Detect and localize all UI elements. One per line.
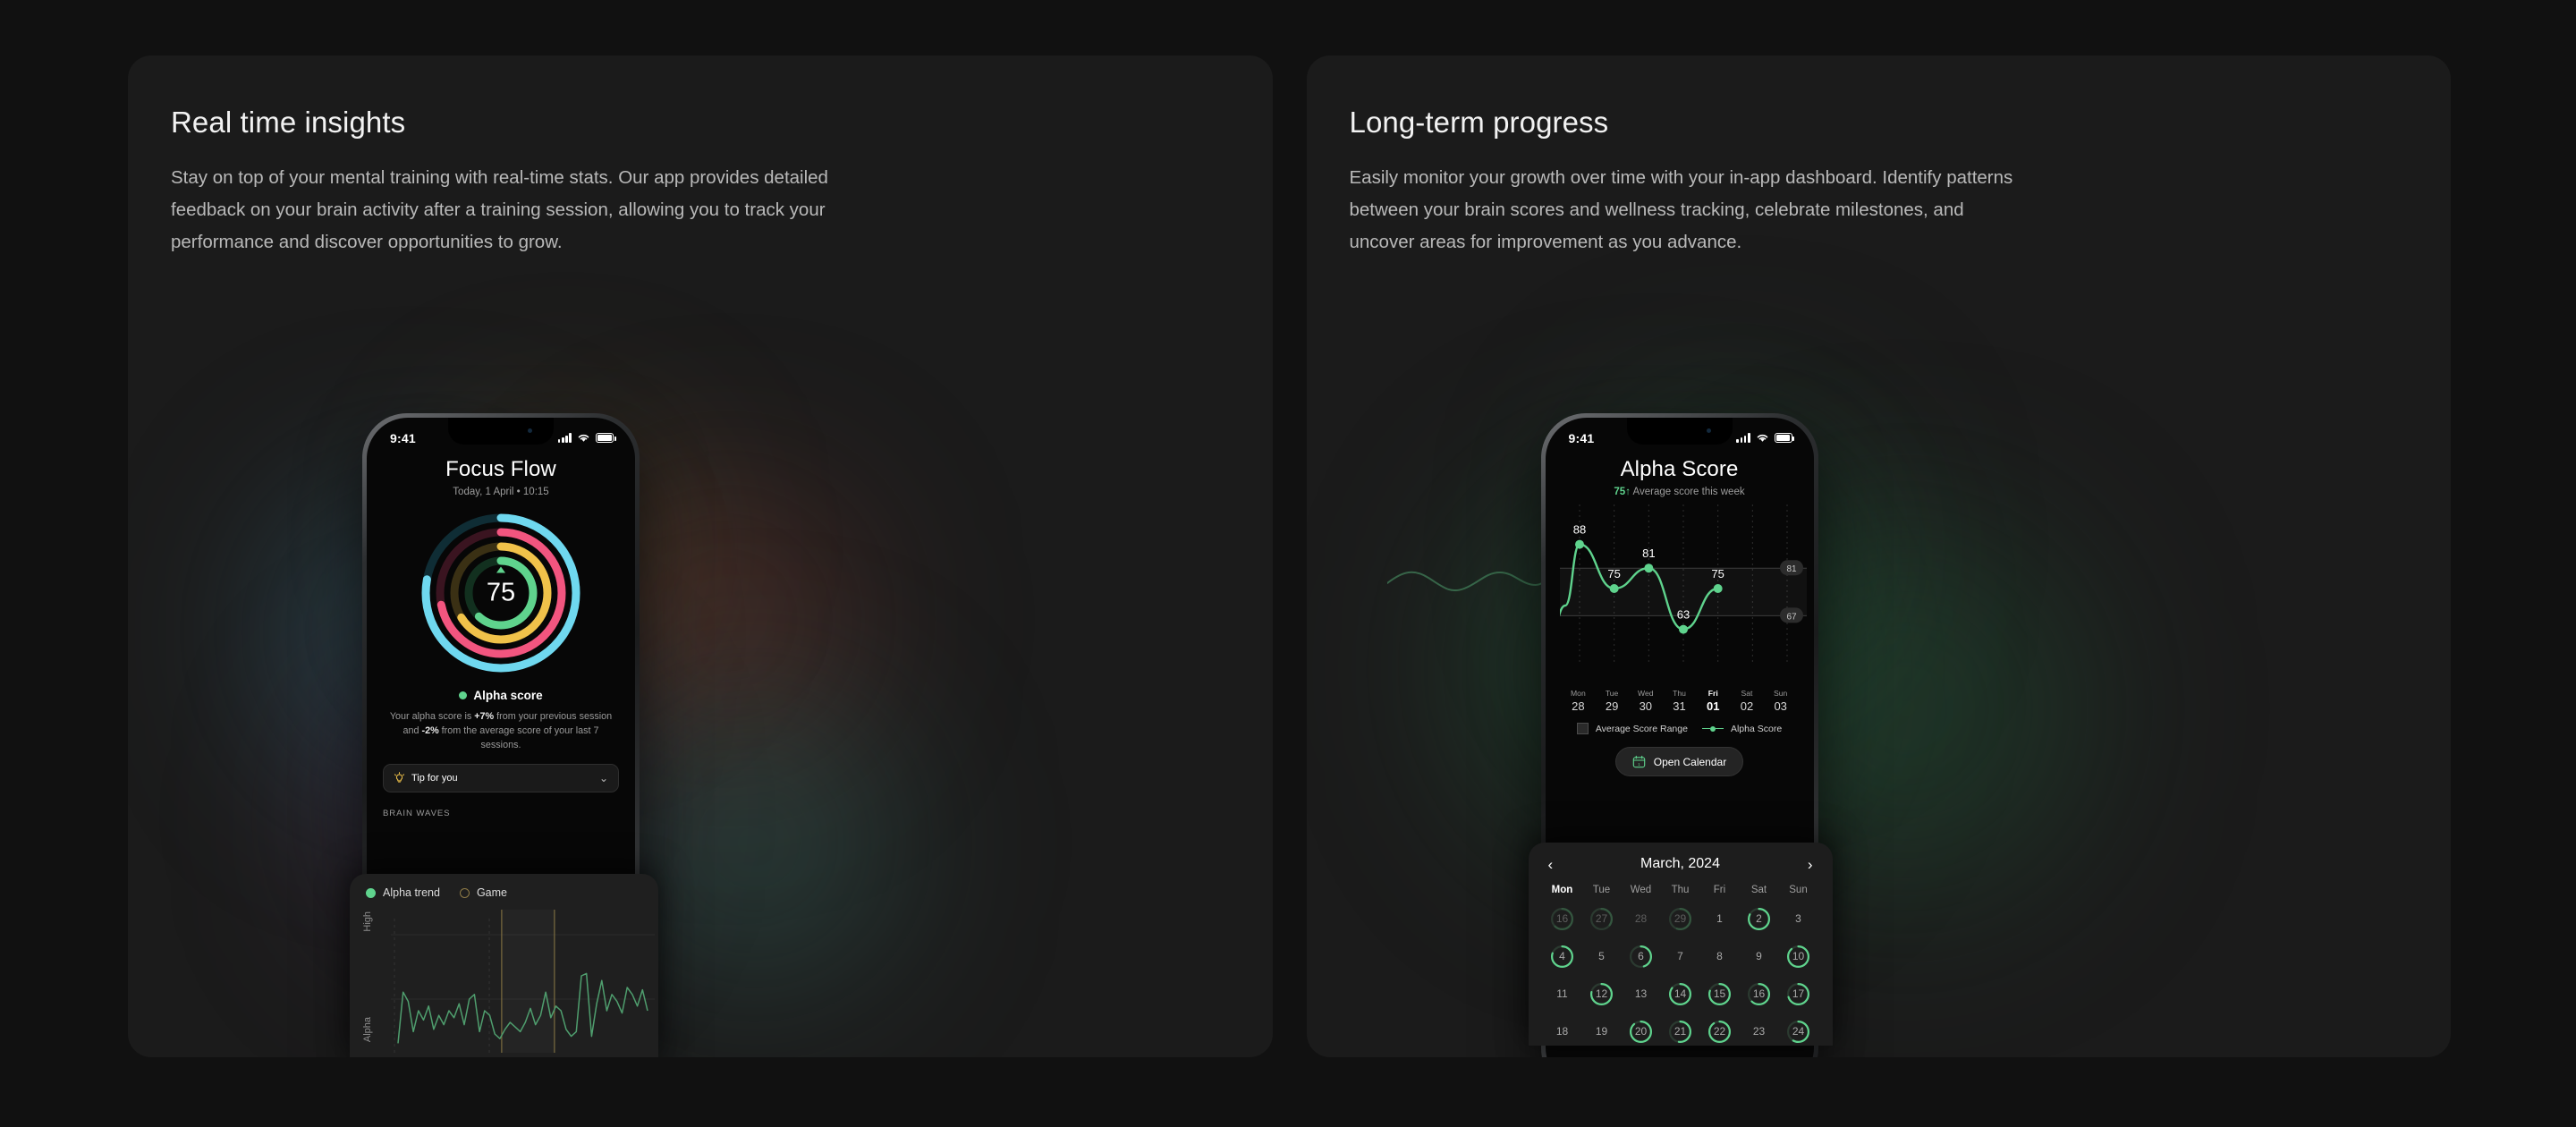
day-name: Mon [1562,689,1596,698]
legend-label-average-range: Average Score Range [1596,724,1688,734]
calendar-day-number: 19 [1596,1025,1607,1038]
lightbulb-icon [394,772,405,784]
status-indicators [1736,433,1792,443]
calendar-day[interactable]: 10 [1786,945,1810,969]
cellular-bars-icon [558,433,572,443]
calendar-day[interactable]: 15 [1707,982,1732,1006]
average-score-value: 75↑ [1614,487,1631,497]
legend-item-game[interactable]: Game [460,886,507,899]
wave-legend: Alpha trend Game [360,886,644,899]
calendar-day-cell[interactable]: 18 [1543,1017,1582,1046]
calendar-day[interactable]: 16 [1747,982,1771,1006]
page-description: Easily monitor your growth over time wit… [1350,162,2016,258]
calendar-day-cell[interactable]: 3 [1779,904,1818,933]
legend-label-game: Game [477,886,507,899]
calendar-day-number: 2 [1756,912,1762,925]
calendar-day-cell[interactable]: 22 [1700,1017,1740,1046]
app-content-left: Focus Flow Today, 1 April • 10:15 [367,452,635,818]
calendar-day-number: 8 [1716,950,1723,962]
calendar-day[interactable]: 23 [1747,1020,1771,1044]
chevron-right-icon[interactable]: › [1802,857,1818,872]
calendar-day-cell[interactable]: 21 [1661,1017,1700,1046]
calendar-day-number: 27 [1596,912,1607,925]
calendar-day[interactable]: 6 [1629,945,1653,969]
alpha-score-line-chart: 81678875816375 [1562,504,1798,683]
calendar-day-cell[interactable]: 10 [1779,942,1818,970]
note-prefix: Your alpha score is [390,711,474,722]
calendar-day-cell[interactable]: 17 [1779,979,1818,1008]
status-time: 9:41 [1569,431,1595,445]
hollow-circle-icon [460,888,470,898]
calendar-day-cell[interactable]: 2 [1740,904,1779,933]
calendar-day[interactable]: 3 [1786,907,1810,931]
status-indicators [558,433,614,443]
calendar-day-cell[interactable]: 14 [1661,979,1700,1008]
calendar-day[interactable]: 22 [1707,1020,1732,1044]
svg-text:81: 81 [1642,547,1655,560]
card-text-right: Long-term progress Easily monitor your g… [1307,55,2452,258]
calendar-day[interactable]: 7 [1668,945,1692,969]
calendar-day-number: 4 [1559,950,1565,962]
day-column[interactable]: Mon28 [1562,689,1596,713]
alpha-score-legend: Alpha score [383,689,619,702]
calendar-weekday: Wed [1622,885,1661,895]
day-number: 03 [1764,699,1798,713]
note-suffix: from the average score of your last 7 se… [439,725,599,750]
calendar-weekday: Tue [1582,885,1622,895]
legend-label-alpha-score: Alpha Score [1731,724,1782,734]
day-column[interactable]: Wed30 [1629,689,1663,713]
calendar-day-number: 3 [1795,912,1801,925]
card-text-left: Real time insights Stay on top of your m… [128,55,1273,258]
calendar-day[interactable]: 24 [1786,1020,1810,1044]
calendar-icon: 1 [1632,755,1646,768]
calendar-day-cell[interactable]: 1 [1700,904,1740,933]
calendar-day-cell[interactable]: 12 [1582,979,1622,1008]
score-trend-up-icon [496,567,505,573]
calendar-day-number: 7 [1677,950,1683,962]
calendar-day-number: 12 [1596,987,1607,1000]
calendar-day-cell[interactable]: 8 [1700,942,1740,970]
brain-waves-section-label: BRAIN WAVES [383,809,619,818]
calendar-day[interactable]: 13 [1629,982,1653,1006]
calendar-day-cell[interactable]: 15 [1700,979,1740,1008]
calendar-day-number: 1 [1716,912,1723,925]
day-column[interactable]: Fri01 [1696,689,1730,713]
calendar-day-cell[interactable]: 27 [1582,904,1622,933]
day-number: 28 [1562,699,1596,713]
calendar-weekday: Thu [1661,885,1700,895]
calendar-day-number: 11 [1556,987,1567,1000]
battery-full-icon [1775,433,1792,443]
calendar-weekday: Mon [1543,885,1582,895]
calendar-day-number: 17 [1792,987,1804,1000]
calendar-day-cell[interactable]: 19 [1582,1017,1622,1046]
day-number: 01 [1696,699,1730,713]
average-score-text: Average score this week [1633,487,1745,497]
calendar-day-cell[interactable]: 6 [1622,942,1661,970]
chart-x-axis-days: Mon28Tue29Wed30Thu31Fri01Sat02Sun03 [1562,689,1798,713]
day-name: Wed [1629,689,1663,698]
calendar-day-number: 23 [1753,1025,1765,1038]
calendar-weekday: Sat [1740,885,1779,895]
status-bar: 9:41 [367,418,635,452]
calendar-week-row: 18192021222324 [1543,1017,1818,1046]
square-swatch-icon [1577,723,1589,734]
note-delta-previous: +7% [474,711,494,722]
calendar-week-row: 45678910 [1543,942,1818,970]
calendar-day[interactable]: 27 [1589,907,1614,931]
calendar-day-number: 22 [1714,1025,1725,1038]
calendar-day-number: 5 [1598,950,1605,962]
svg-text:1: 1 [1638,762,1640,767]
card-real-time-insights: Real time insights Stay on top of your m… [128,55,1273,1057]
legend-label-alpha-trend: Alpha trend [383,886,440,899]
calendar-grid: 1627282912345678910111213141516171819202… [1543,904,1818,1046]
app-content-right: Alpha Score 75↑ Average score this week … [1546,452,1814,776]
day-number: 31 [1663,699,1697,713]
calendar-day[interactable]: 21 [1668,1020,1692,1044]
calendar-day-cell[interactable]: 20 [1622,1017,1661,1046]
calendar-day-number: 9 [1756,950,1762,962]
page-title: Real time insights [171,106,1230,140]
calendar-day-number: 16 [1753,987,1765,1000]
page-title: Long-term progress [1350,106,2409,140]
legend-label: Alpha score [473,689,542,702]
day-name: Tue [1595,689,1629,698]
calendar-day-number: 21 [1674,1025,1686,1038]
score-rings-chart: 75 [418,510,584,676]
day-column[interactable]: Sun03 [1764,689,1798,713]
day-number: 30 [1629,699,1663,713]
calendar-day-cell[interactable]: 11 [1543,979,1582,1008]
filled-dot-icon [366,888,376,898]
calendar-day-cell[interactable]: 28 [1622,904,1661,933]
note-delta-average: -2% [421,725,438,736]
app-title: Focus Flow [383,457,619,482]
calendar-weekday-header: MonTueWedThuFriSatSun [1543,885,1818,895]
calendar-day[interactable]: 8 [1707,945,1732,969]
page-root: Real time insights Stay on top of your m… [0,0,2576,1127]
svg-text:63: 63 [1676,608,1689,622]
axis-label-alpha: Alpha [362,1017,373,1042]
day-number: 29 [1595,699,1629,713]
calendar-panel: ‹ March, 2024 › MonTueWedThuFriSatSun 16… [1529,843,1833,1046]
calendar-day[interactable]: 4 [1550,945,1574,969]
calendar-day[interactable]: 14 [1668,982,1692,1006]
tip-label: Tip for you [411,773,593,784]
calendar-day[interactable]: 20 [1629,1020,1653,1044]
calendar-day-cell[interactable]: 23 [1740,1017,1779,1046]
cellular-bars-icon [1736,433,1750,443]
calendar-header: ‹ March, 2024 › [1543,856,1818,872]
calendar-day-cell[interactable]: 16 [1543,904,1582,933]
wifi-icon [1756,433,1769,443]
chevron-left-icon[interactable]: ‹ [1543,857,1559,872]
svg-text:75: 75 [1711,567,1724,580]
calendar-day-number: 18 [1556,1025,1568,1038]
calendar-weekday: Sun [1779,885,1818,895]
svg-text:81: 81 [1786,564,1797,574]
calendar-day[interactable]: 18 [1550,1020,1574,1044]
alpha-trend-chart: High Alpha [360,910,644,1053]
calendar-day-number: 10 [1792,950,1804,962]
calendar-day[interactable]: 19 [1589,1020,1614,1044]
calendar-day[interactable]: 29 [1668,907,1692,931]
svg-text:88: 88 [1572,523,1585,537]
calendar-title: March, 2024 [1640,856,1720,872]
status-bar: 9:41 [1546,418,1814,452]
calendar-day[interactable]: 1 [1707,907,1732,931]
calendar-day[interactable]: 28 [1629,907,1653,931]
day-name: Thu [1663,689,1697,698]
battery-full-icon [596,433,614,443]
calendar-day-number: 28 [1635,912,1647,925]
calendar-day-number: 20 [1635,1025,1647,1038]
calendar-day-cell[interactable]: 24 [1779,1017,1818,1046]
calendar-day-cell[interactable]: 29 [1661,904,1700,933]
day-name: Sat [1730,689,1764,698]
calendar-day-cell[interactable]: 5 [1582,942,1622,970]
calendar-week-row: 11121314151617 [1543,979,1818,1008]
calendar-day-number: 15 [1714,987,1725,1000]
tip-for-you-accordion[interactable]: Tip for you ⌄ [383,764,619,792]
calendar-day-number: 24 [1792,1025,1804,1038]
calendar-day-number: 14 [1674,987,1686,1000]
legend-item-alpha-score[interactable]: Alpha Score [1702,724,1782,734]
calendar-day-cell[interactable]: 16 [1740,979,1779,1008]
calendar-day-cell[interactable]: 13 [1622,979,1661,1008]
calendar-day-number: 29 [1674,912,1686,925]
calendar-week-row: 16272829123 [1543,904,1818,933]
open-calendar-button[interactable]: 1 Open Calendar [1615,747,1743,776]
app-subtitle: 75↑ Average score this week [1562,487,1798,497]
calendar-day[interactable]: 2 [1747,907,1771,931]
status-time: 9:41 [390,431,416,445]
chevron-down-icon[interactable]: ⌄ [599,772,608,784]
brain-waves-panel: Alpha trend Game High Alpha [350,874,658,1057]
app-subtitle: Today, 1 April • 10:15 [383,487,619,497]
legend-item-average-range[interactable]: Average Score Range [1577,723,1688,734]
score-note: Your alpha score is +7% from your previo… [383,709,619,752]
svg-text:75: 75 [1607,567,1620,580]
open-calendar-label: Open Calendar [1654,756,1726,768]
chart-legend: Average Score Range Alpha Score [1562,723,1798,734]
day-column[interactable]: Sat02 [1730,689,1764,713]
calendar-day[interactable]: 11 [1550,982,1574,1006]
day-column[interactable]: Tue29 [1595,689,1629,713]
calendar-day[interactable]: 17 [1786,982,1810,1006]
card-long-term-progress: Long-term progress Easily monitor your g… [1307,55,2452,1057]
calendar-weekday: Fri [1700,885,1740,895]
calendar-day-number: 6 [1638,950,1644,962]
line-point-icon [1702,726,1724,732]
app-title: Alpha Score [1562,457,1798,482]
day-name: Sun [1764,689,1798,698]
calendar-day[interactable]: 12 [1589,982,1614,1006]
legend-item-alpha-trend[interactable]: Alpha trend [366,886,440,899]
wifi-icon [577,433,590,443]
calendar-day[interactable]: 9 [1747,945,1771,969]
calendar-day[interactable]: 16 [1550,907,1574,931]
score-value: 75 [487,579,515,608]
green-dot-icon [459,691,467,699]
calendar-day-cell[interactable]: 7 [1661,942,1700,970]
day-name: Fri [1696,689,1730,698]
calendar-day-number: 16 [1556,912,1568,925]
axis-label-high: High [362,911,373,932]
calendar-day-cell[interactable]: 4 [1543,942,1582,970]
calendar-day[interactable]: 5 [1589,945,1614,969]
day-column[interactable]: Thu31 [1663,689,1697,713]
page-description: Stay on top of your mental training with… [171,162,837,258]
calendar-day-cell[interactable]: 9 [1740,942,1779,970]
calendar-day-number: 13 [1635,987,1647,1000]
day-number: 02 [1730,699,1764,713]
svg-text:67: 67 [1786,612,1797,622]
